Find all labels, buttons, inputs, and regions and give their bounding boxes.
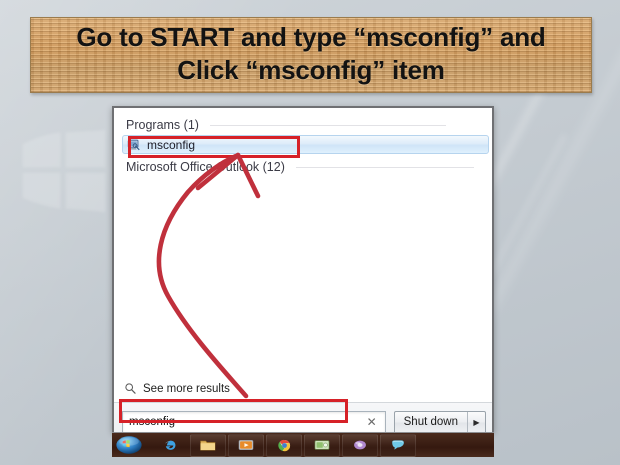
windows-logo-watermark-icon: [18, 128, 110, 214]
group-divider: [210, 125, 446, 126]
search-input-value: msconfig: [129, 416, 365, 428]
results-group-header-label: Programs (1): [126, 118, 199, 132]
msconfig-app-icon: [127, 138, 141, 152]
taskbar-button-media-app[interactable]: [342, 434, 378, 457]
chrome-icon: [277, 438, 292, 453]
start-button[interactable]: [114, 435, 144, 456]
shutdown-button[interactable]: Shut down: [395, 412, 467, 433]
slide-title-banner: Go to START and type “msconfig” and Clic…: [30, 17, 592, 93]
see-more-results-label: See more results: [143, 383, 230, 395]
taskbar-button-chrome[interactable]: [266, 434, 302, 457]
folder-icon: [199, 438, 217, 452]
result-item-label: msconfig: [147, 137, 195, 152]
media-player-icon: [237, 438, 255, 452]
group-divider: [296, 167, 474, 168]
search-icon: [124, 382, 138, 396]
results-group-header-programs: Programs (1): [114, 116, 492, 135]
search-results-pane: Programs (1) msconfig Microsoft Office O: [114, 108, 492, 402]
close-icon[interactable]: ✕: [365, 416, 379, 428]
slide-canvas: Go to START and type “msconfig” and Clic…: [0, 0, 620, 465]
blue-app-icon: [389, 438, 407, 452]
see-more-results-link[interactable]: See more results: [124, 382, 230, 396]
page-title-line-2: Click “msconfig” item: [177, 54, 444, 87]
start-menu-panel: Programs (1) msconfig Microsoft Office O: [112, 106, 494, 432]
chevron-right-icon[interactable]: ▶: [467, 412, 485, 433]
taskbar-button-media-player[interactable]: [228, 434, 264, 457]
shutdown-control-group: Shut down ▶: [394, 411, 486, 434]
green-app-icon: [313, 438, 331, 452]
taskbar-button-money[interactable]: [304, 434, 340, 457]
page-title-line-1: Go to START and type “msconfig” and: [76, 21, 545, 54]
taskbar: [112, 432, 494, 457]
search-input[interactable]: msconfig ✕: [122, 411, 386, 433]
taskbar-button-messenger[interactable]: [380, 434, 416, 457]
results-group-header-label: Microsoft Office Outlook (12): [126, 160, 285, 174]
purple-disc-icon: [351, 438, 369, 452]
result-item-msconfig[interactable]: msconfig: [122, 135, 489, 154]
windows-orb-icon: [115, 435, 143, 455]
taskbar-button-windows-explorer[interactable]: [190, 434, 226, 457]
results-group-header-outlook: Microsoft Office Outlook (12): [114, 158, 492, 177]
internet-explorer-icon: [163, 438, 178, 453]
taskbar-button-internet-explorer[interactable]: [152, 434, 188, 457]
